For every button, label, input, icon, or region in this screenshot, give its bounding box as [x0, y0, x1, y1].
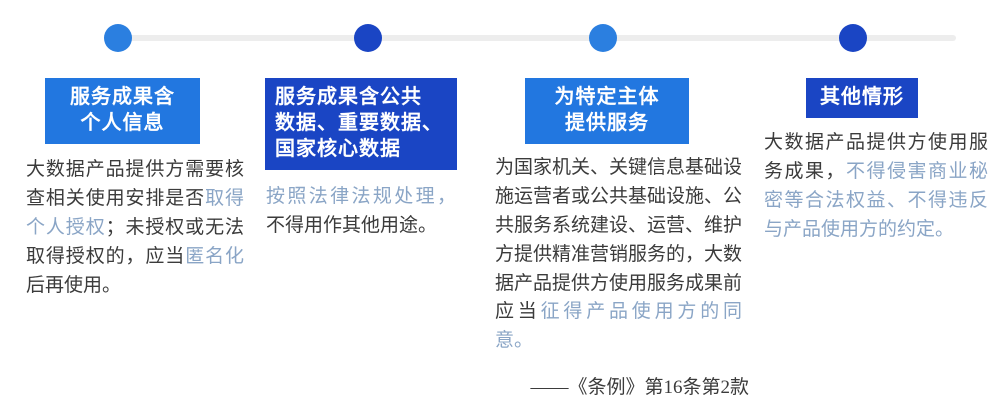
text-segment: 不得用作其他用途。	[266, 215, 437, 236]
text-segment: 匿名化	[185, 246, 244, 267]
column-3-body: 为国家机关、关键信息基础设施运营者或公共基础设施、公共服务系统建设、运营、维护方…	[495, 154, 742, 356]
timeline-dot-1	[104, 24, 132, 52]
text-segment: 为国家机关、关键信息基础设施运营者或公共基础设施、公共服务系统建设、运营、维护方…	[495, 157, 742, 322]
timeline-dot-2	[354, 24, 382, 52]
column-1-header: 服务成果含 个人信息	[45, 78, 200, 144]
column-2-header: 服务成果含公共 数据、重要数据、 国家核心数据	[265, 78, 457, 170]
timeline	[0, 0, 993, 76]
timeline-track	[118, 35, 956, 41]
info-column-4: 其他情形 大数据产品提供方使用服务成果，不得侵害商业秘密等合法权益、不得违反与产…	[760, 78, 988, 245]
text-segment: 后再使用。	[26, 275, 121, 296]
column-3-citation: ——《条例》第16条第2款	[495, 372, 749, 399]
text-segment: 按照法律法规处理，	[266, 186, 456, 207]
info-column-2: 服务成果含公共 数据、重要数据、 国家核心数据 按照法律法规处理，不得用作其他用…	[263, 78, 459, 241]
column-2-body: 按照法律法规处理，不得用作其他用途。	[266, 183, 456, 241]
column-4-body: 大数据产品提供方使用服务成果，不得侵害商业秘密等合法权益、不得违反与产品使用方的…	[764, 129, 988, 245]
timeline-dot-3	[589, 24, 617, 52]
column-1-body: 大数据产品提供方需要核查相关使用安排是否取得个人授权；未授权或无法取得授权的，应…	[26, 156, 244, 300]
info-column-3: 为特定主体 提供服务 为国家机关、关键信息基础设施运营者或公共基础设施、公共服务…	[488, 78, 750, 399]
column-3-header: 为特定主体 提供服务	[525, 78, 689, 144]
info-column-1: 服务成果含 个人信息 大数据产品提供方需要核查相关使用安排是否取得个人授权；未授…	[20, 78, 252, 300]
timeline-dot-4	[839, 24, 867, 52]
column-4-header: 其他情形	[806, 78, 918, 118]
